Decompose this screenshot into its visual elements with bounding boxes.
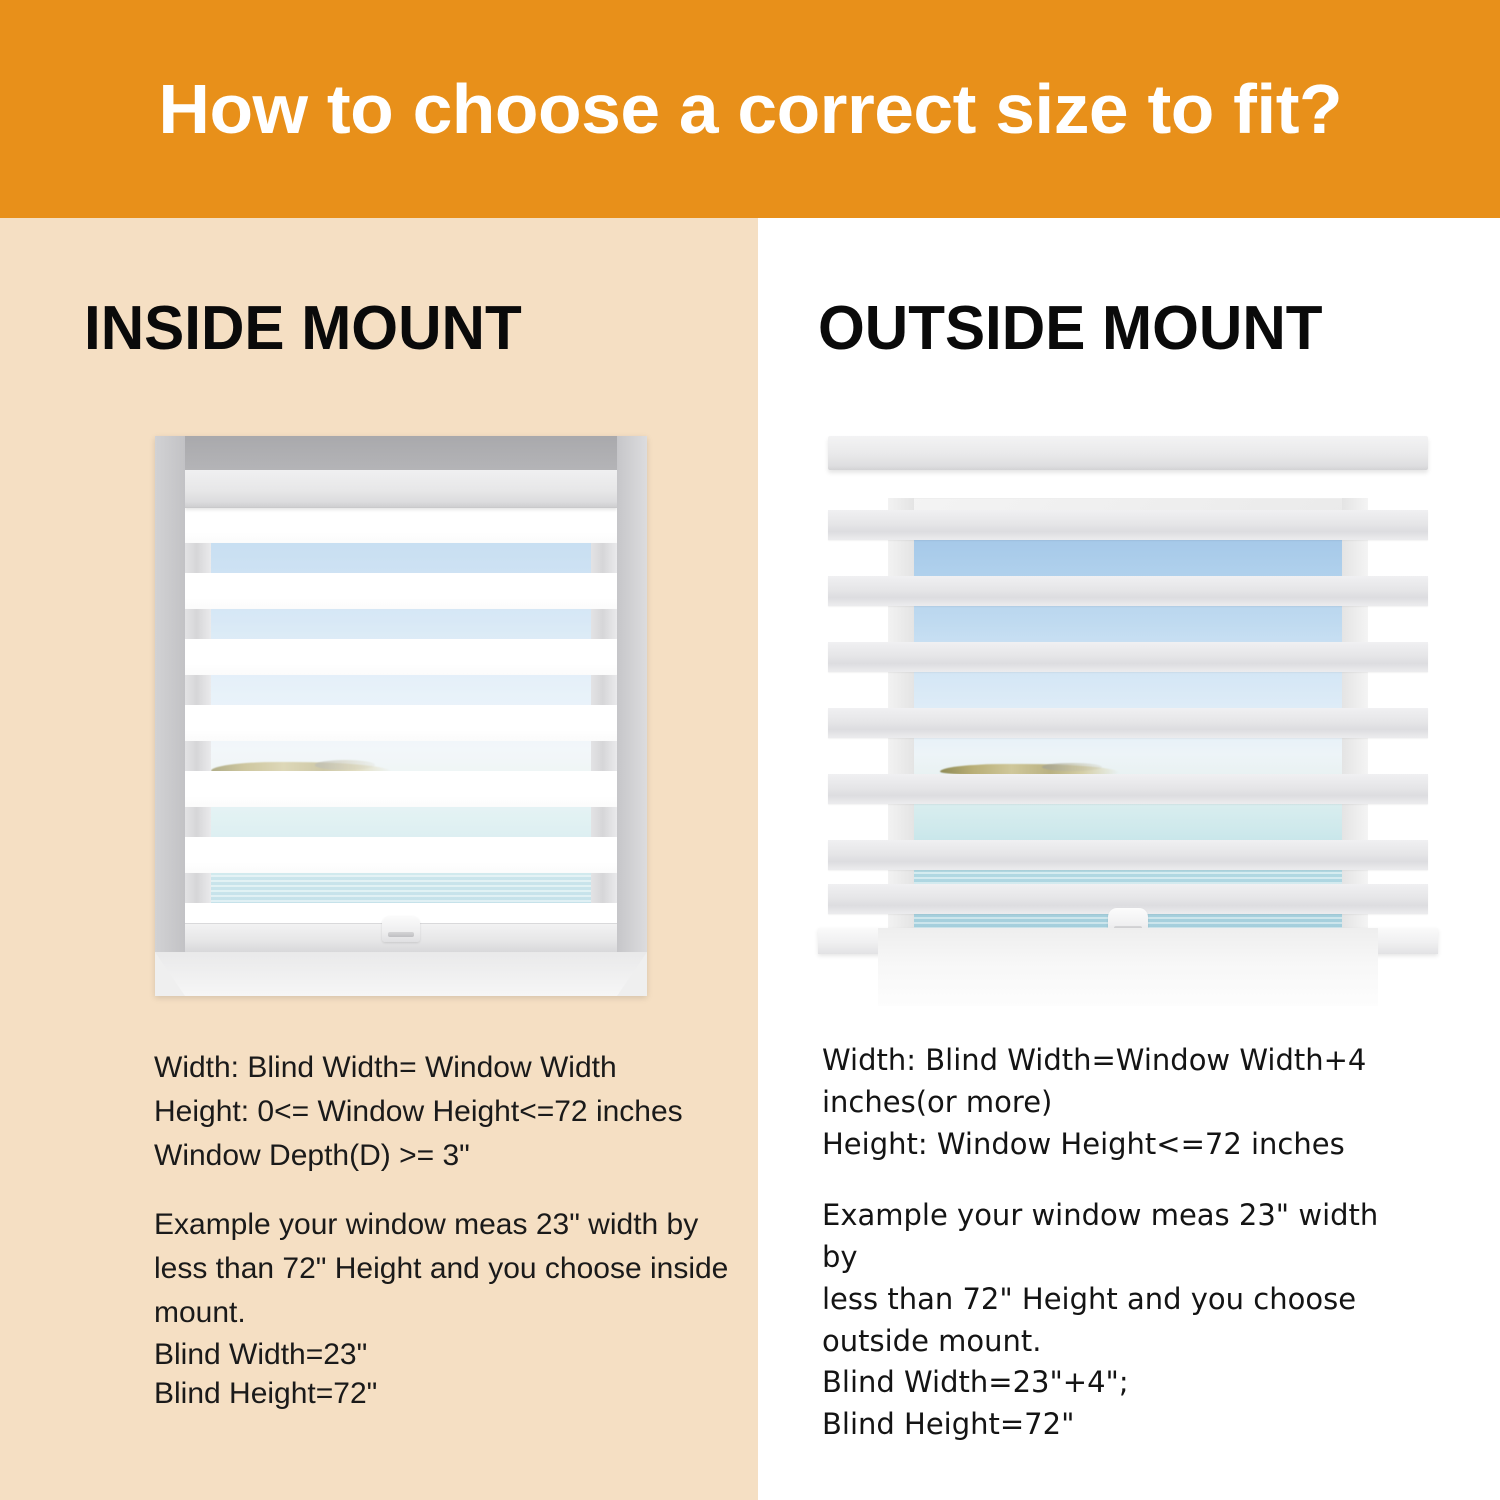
inside-mount-caption: Width: Blind Width= Window Width Height:… <box>154 1046 734 1413</box>
blind-band <box>828 840 1428 870</box>
blind-pull-handle[interactable] <box>382 916 420 942</box>
outside-mount-caption: Width: Blind Width=Window Width+4 inches… <box>822 1040 1422 1446</box>
panel-inside-mount: INSIDE MOUNT <box>0 218 758 1500</box>
blind-band-see-through <box>898 642 1378 672</box>
blind-band-tab-left <box>185 609 211 639</box>
blind-opaque-band <box>185 639 617 675</box>
spec-line: Width: Blind Width=Window Width+4 <box>822 1040 1422 1082</box>
page-header: How to choose a correct size to fit? <box>0 0 1500 218</box>
blind-band-tab-left <box>185 873 211 903</box>
zebra-blind[interactable] <box>185 470 617 952</box>
example-line: Blind Height=72" <box>822 1404 1422 1446</box>
spec-line: Width: Blind Width= Window Width <box>154 1046 734 1090</box>
example-line: less than 72" Height and you choose <box>822 1279 1422 1321</box>
example-line: Example your window meas 23" width by <box>822 1195 1422 1279</box>
blind-opaque-band <box>185 573 617 609</box>
example-line: Blind Width=23" <box>154 1335 734 1374</box>
window-sill <box>878 928 1378 1006</box>
blind-sheer-band <box>185 675 617 705</box>
blind-opaque-band <box>185 771 617 807</box>
blind-opaque-band <box>185 507 617 543</box>
blind-opaque-band <box>185 705 617 741</box>
inside-mount-window-illustration <box>155 436 647 996</box>
heading-outside-mount: OUTSIDE MOUNT <box>818 298 1323 360</box>
blind-band-tab-right <box>591 609 617 639</box>
panel-outside-mount: OUTSIDE MOUNT <box>758 218 1500 1500</box>
blind-band-see-through <box>898 576 1378 606</box>
window-sill <box>155 952 647 996</box>
outside-mount-window-illustration <box>818 436 1438 1006</box>
page-title: How to choose a correct size to fit? <box>158 74 1342 144</box>
caption-spacer <box>822 1165 1422 1195</box>
comparison-content: INSIDE MOUNT <box>0 218 1500 1500</box>
example-line: outside mount. <box>822 1321 1422 1363</box>
blind-sheer-band <box>185 873 617 903</box>
zebra-blind[interactable] <box>818 436 1438 956</box>
blind-band-tab-left <box>185 675 211 705</box>
blind-sheer-band <box>185 609 617 639</box>
example-line: Blind Height=72" <box>154 1374 734 1413</box>
spec-line: Height: Window Height<=72 inches <box>822 1124 1422 1166</box>
blind-band-tab-right <box>591 675 617 705</box>
blind-band-see-through <box>898 840 1378 870</box>
spec-line: inches(or more) <box>822 1082 1422 1124</box>
blind-band-tab-left <box>185 741 211 771</box>
blind-band <box>828 642 1428 672</box>
blind-band <box>828 576 1428 606</box>
blind-band <box>828 708 1428 738</box>
window-sill-right-bevel <box>617 952 647 996</box>
blind-opaque-band <box>185 837 617 873</box>
example-line: Example your window meas 23" width by <box>154 1203 734 1247</box>
blind-band <box>828 510 1428 540</box>
blind-headrail <box>185 470 617 508</box>
window-frame-left <box>155 436 185 996</box>
window-opening <box>185 470 617 952</box>
blind-band-see-through <box>898 774 1378 804</box>
example-line: Blind Width=23"+4"; <box>822 1362 1422 1404</box>
window-frame-right <box>617 436 647 996</box>
blind-band-tab-left <box>185 807 211 837</box>
blind-band-tab-right <box>591 873 617 903</box>
blind-band-tab-right <box>591 741 617 771</box>
blind-sheer-band <box>185 741 617 771</box>
blind-band-see-through <box>898 510 1378 540</box>
blind-headrail <box>828 436 1428 470</box>
blind-sheer-band <box>185 807 617 837</box>
blind-band-see-through <box>898 708 1378 738</box>
spec-line: Height: 0<= Window Height<=72 inches <box>154 1090 734 1134</box>
heading-inside-mount: INSIDE MOUNT <box>84 298 522 360</box>
spec-line: Window Depth(D) >= 3" <box>154 1134 734 1178</box>
window-frame-top <box>155 436 647 470</box>
blind-band-tab-left <box>185 543 211 573</box>
blind-band-tab-right <box>591 543 617 573</box>
blind-band <box>828 774 1428 804</box>
blind-band-tab-right <box>591 807 617 837</box>
example-line: less than 72" Height and you choose insi… <box>154 1247 734 1291</box>
caption-spacer <box>154 1177 734 1203</box>
blind-sheer-band <box>185 543 617 573</box>
example-line: mount. <box>154 1291 734 1335</box>
window-sill-left-bevel <box>155 952 185 996</box>
